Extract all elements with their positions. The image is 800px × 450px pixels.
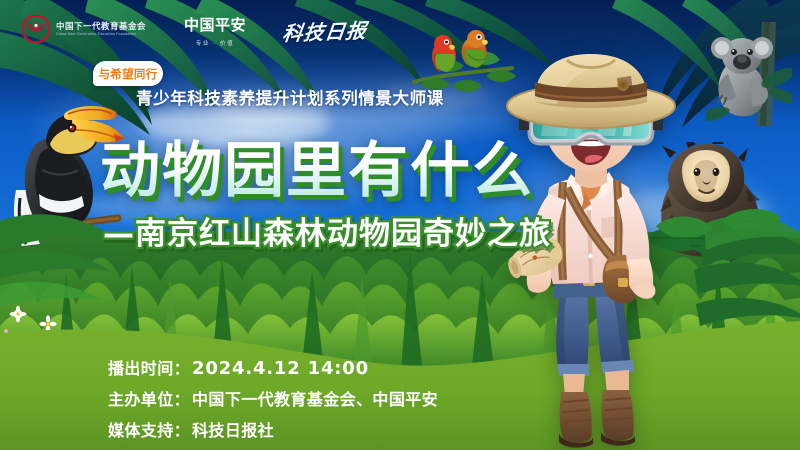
logo-bar: 中国下一代教育基金会 China Next Generation Educati… [0,0,800,58]
campaign-badge-label: 与希望同行 [99,66,158,82]
organizer-label: 主办单位： [108,386,190,410]
info-row-broadcast-time: 播出时间： 2024.4.12 14:00 [108,355,438,379]
page-subtitle: —南京红山森林动物园奇妙之旅 [103,208,551,253]
foundation-emblem-icon [22,15,50,43]
broadcast-info-block: 播出时间： 2024.4.12 14:00 主办单位： 中国下一代教育基金会、中… [108,355,438,448]
broadcast-time-label: 播出时间： [108,355,190,379]
program-series-kicker: 青少年科技素养提升计划系列情景大师课 [136,85,444,109]
ping-an-name: 中国平安 [175,14,255,35]
logo-china-next-generation-education-foundation[interactable]: 中国下一代教育基金会 China Next Generation Educati… [22,15,146,43]
campaign-badge: 与希望同行 [93,61,163,86]
media-support-label: 媒体支持： [108,417,190,441]
promo-poster: 中国下一代教育基金会 China Next Generation Educati… [0,0,800,450]
media-support-value: 科技日报社 [192,417,274,441]
logo-ping-an[interactable]: 中国平安 专业 · 价值 [175,14,255,47]
info-row-media-support: 媒体支持： 科技日报社 [108,417,438,441]
foundation-name-en: China Next Generation Education Foundati… [56,33,146,37]
footer-info-band: 播出时间： 2024.4.12 14:00 主办单位： 中国下一代教育基金会、中… [0,315,800,450]
foundation-name-cn: 中国下一代教育基金会 [56,22,146,31]
info-row-organizer: 主办单位： 中国下一代教育基金会、中国平安 [108,386,438,410]
broadcast-time-value: 2024.4.12 14:00 [192,358,369,379]
organizer-value: 中国下一代教育基金会、中国平安 [192,386,438,410]
page-title: 动物园里有什么 [100,122,534,209]
ping-an-tagline: 专业 · 价值 [175,39,255,47]
logo-science-technology-daily[interactable]: 科技日报 [281,15,369,47]
